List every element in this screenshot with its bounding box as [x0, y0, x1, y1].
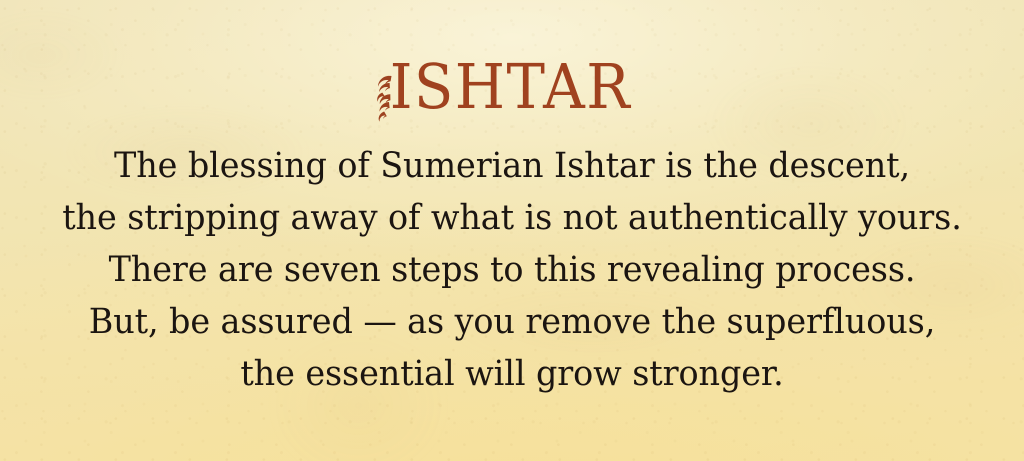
- verse-line-3: There are seven steps to this revealing …: [23, 244, 1001, 296]
- title-inner: ISHTAR: [373, 56, 650, 120]
- verse-line-1: The blessing of Sumerian Ishtar is the d…: [23, 140, 1001, 192]
- card-content: ISHTAR The blessing of Sumerian Ishtar i…: [0, 0, 1024, 461]
- verse-line-4: But, be assured — as you remove the supe…: [23, 296, 1001, 348]
- ishtar-quote-card: ISHTAR The blessing of Sumerian Ishtar i…: [0, 0, 1024, 461]
- page-title: ISHTAR: [373, 56, 631, 118]
- verse-line-2: the stripping away of what is not authen…: [23, 192, 1001, 244]
- verse-block: The blessing of Sumerian Ishtar is the d…: [0, 140, 1024, 400]
- title-block: ISHTAR: [0, 44, 1024, 120]
- verse-line-5: the essential will grow stronger.: [23, 348, 1001, 400]
